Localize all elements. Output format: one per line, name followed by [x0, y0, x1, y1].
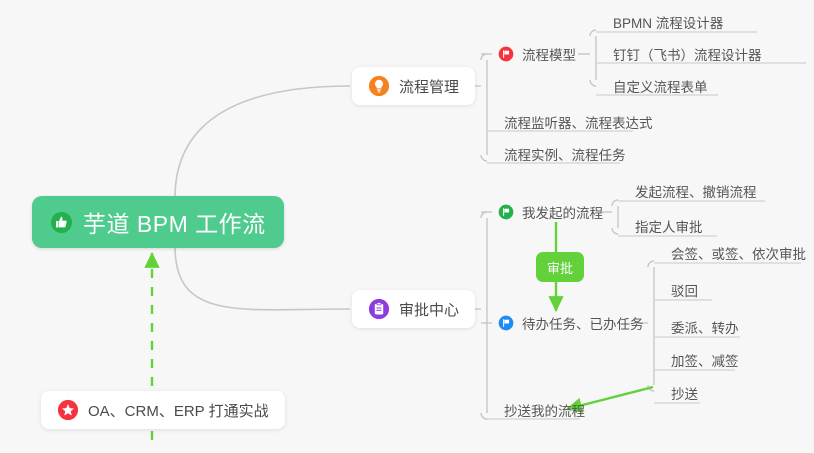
branch-approval-center-label: 审批中心 — [399, 299, 459, 320]
flag-icon — [498, 315, 514, 331]
node-my-initiated-label: 我发起的流程 — [522, 202, 603, 222]
node-bpmn-designer-label: BPMN 流程设计器 — [613, 12, 723, 32]
node-delegate-transfer[interactable]: 委派、转办 — [658, 313, 747, 341]
edge-root-to-approval-center — [175, 246, 350, 310]
node-custom-process-form[interactable]: 自定义流程表单 — [600, 72, 716, 100]
node-instance-task-label: 流程实例、流程任务 — [504, 144, 626, 164]
edge-approval-center-spine — [481, 212, 487, 419]
flag-icon — [498, 46, 514, 62]
node-cc-to-me-label: 抄送我的流程 — [504, 400, 585, 420]
clipboard-icon — [368, 298, 390, 320]
edge-root-to-process-management — [175, 86, 350, 198]
node-bpmn-designer[interactable]: BPMN 流程设计器 — [600, 8, 731, 36]
node-start-cancel-process-label: 发起流程、撤销流程 — [635, 181, 757, 201]
root-label: 芋道 BPM 工作流 — [83, 205, 266, 239]
approval-annotation-tag-label: 审批 — [547, 258, 573, 277]
node-add-remove-sign[interactable]: 加签、减签 — [658, 346, 747, 374]
branch-approval-center[interactable]: 审批中心 — [352, 290, 475, 328]
node-process-model-label: 流程模型 — [522, 44, 576, 64]
star-icon — [57, 399, 79, 421]
node-instance-task[interactable]: 流程实例、流程任务 — [491, 140, 634, 168]
node-counter-or-sequential-sign[interactable]: 会签、或签、依次审批 — [658, 239, 814, 267]
node-start-cancel-process[interactable]: 发起流程、撤销流程 — [622, 177, 765, 205]
node-counter-or-sequential-sign-label: 会签、或签、依次审批 — [671, 243, 806, 263]
node-listener-expression[interactable]: 流程监听器、流程表达式 — [491, 108, 661, 136]
bottom-note-label: OA、CRM、ERP 打通实战 — [88, 400, 269, 421]
approval-annotation-tag[interactable]: 审批 — [536, 252, 584, 282]
node-process-model[interactable]: 流程模型 — [492, 40, 584, 68]
flag-icon — [498, 204, 514, 220]
node-reject-label: 驳回 — [671, 280, 698, 300]
root-node[interactable]: 芋道 BPM 工作流 — [32, 196, 284, 248]
edge-process-model-spine — [590, 30, 596, 86]
bottom-note-node[interactable]: OA、CRM、ERP 打通实战 — [41, 391, 285, 429]
node-cc-label: 抄送 — [671, 383, 698, 403]
lightbulb-icon — [368, 75, 390, 97]
node-add-remove-sign-label: 加签、减签 — [671, 350, 739, 370]
edge-process-management-spine — [481, 54, 487, 161]
node-delegate-transfer-label: 委派、转办 — [671, 317, 739, 337]
node-dingtalk-feishu-designer[interactable]: 钉钉（飞书）流程设计器 — [600, 40, 770, 68]
node-reject[interactable]: 驳回 — [658, 276, 706, 304]
node-assignee-approval[interactable]: 指定人审批 — [622, 212, 711, 240]
node-dingtalk-feishu-designer-label: 钉钉（飞书）流程设计器 — [613, 44, 762, 64]
thumbs-up-icon — [50, 211, 73, 234]
node-cc[interactable]: 抄送 — [658, 379, 706, 407]
node-my-initiated[interactable]: 我发起的流程 — [492, 198, 611, 226]
mindmap-canvas: 芋道 BPM 工作流 流程管理 流程模型 BPMN 流程设计器 钉钉（飞书）流程 — [0, 0, 814, 453]
node-todo-done-task[interactable]: 待办任务、已办任务 — [492, 309, 652, 337]
node-todo-done-task-label: 待办任务、已办任务 — [522, 313, 644, 333]
node-cc-to-me[interactable]: 抄送我的流程 — [491, 396, 593, 424]
branch-process-management-label: 流程管理 — [399, 76, 459, 97]
node-assignee-approval-label: 指定人审批 — [635, 216, 703, 236]
edge-my-initiated-spine — [612, 200, 618, 234]
node-custom-process-form-label: 自定义流程表单 — [613, 76, 708, 96]
branch-process-management[interactable]: 流程管理 — [352, 67, 475, 105]
node-listener-expression-label: 流程监听器、流程表达式 — [504, 112, 653, 132]
